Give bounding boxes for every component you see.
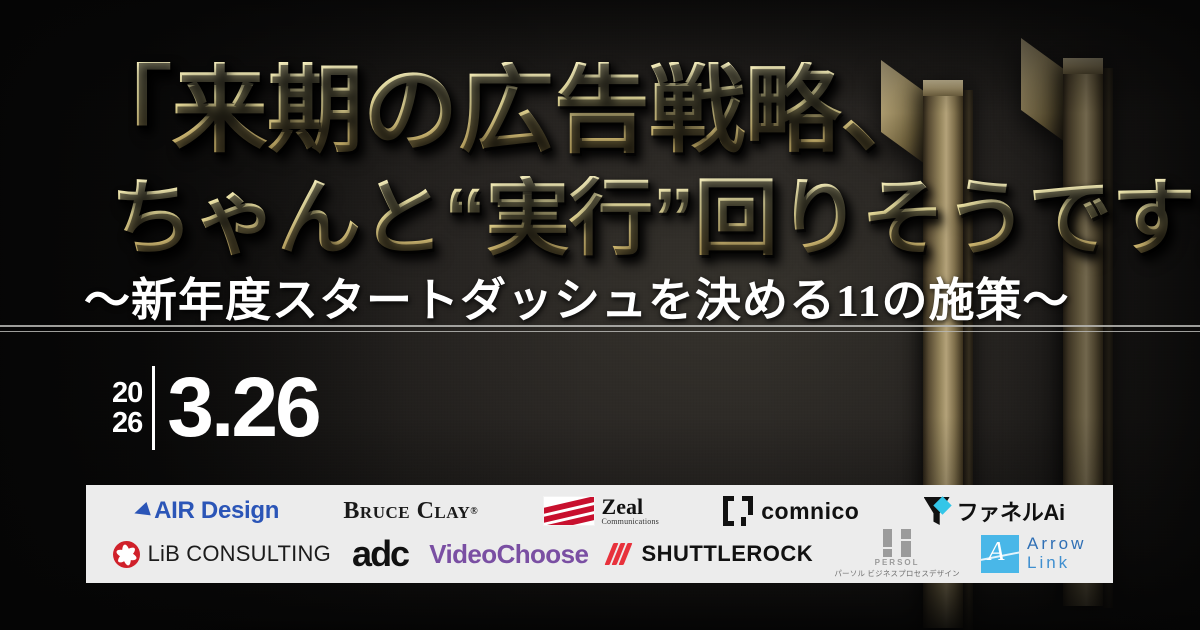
event-info-row: 20 26 3.26 ONLINE 参加無料 木 11:00~15:00 申込者… [0, 352, 1200, 477]
funnel-icon [924, 497, 950, 525]
arrow-triangle-icon [132, 502, 151, 520]
shuttlerock-stripes-icon [609, 543, 633, 565]
logo-arrow-link-label-2: Link [1027, 554, 1086, 573]
arrow-link-mark-icon: A [981, 535, 1019, 573]
event-date: 3.26 [167, 369, 319, 446]
date-vertical-rule [152, 366, 155, 450]
persol-mark-icon [883, 529, 911, 557]
sponsor-logo-bar: AIR Design Bruce Clay® Zeal Communicatio… [86, 485, 1113, 583]
sponsor-row-1: AIR Design Bruce Clay® Zeal Communicatio… [102, 491, 1097, 531]
logo-air-design-label: AIR Design [154, 497, 279, 525]
event-year-top: 20 [112, 378, 142, 408]
sponsor-row-2: LiB CONSULTING adc VideoChoose SHUTTLERO… [102, 531, 1097, 577]
logo-lib-consulting[interactable]: LiB CONSULTING [113, 541, 331, 568]
logo-lib-consulting-label: LiB CONSULTING [148, 541, 331, 567]
event-year-bottom: 26 [112, 408, 142, 438]
headline-line-2: ちゃんと“実行”回りそうですか?」 [110, 176, 1200, 262]
lib-swirl-icon [113, 541, 140, 568]
headline-line-1: 「来期の広告戦略、 [76, 62, 936, 160]
logo-comnico[interactable]: comnico [723, 496, 859, 526]
section-divider [0, 325, 1200, 332]
logo-air-design[interactable]: AIR Design [134, 497, 279, 525]
poster-canvas: 「来期の広告戦略、 ちゃんと“実行”回りそうですか?」 〜新年度スタートダッシュ… [0, 0, 1200, 630]
logo-comnico-label: comnico [761, 498, 859, 525]
logo-funnel-ai-label: ファネルAi [957, 495, 1065, 527]
comnico-bracket-icon [723, 496, 753, 526]
logo-bruce-clay-label: Bruce Clay [343, 498, 470, 525]
logo-shuttlerock-label: SHUTTLEROCK [641, 541, 813, 567]
logo-zeal-communications[interactable]: Zeal Communications [543, 496, 659, 526]
logo-persol-sublabel: パーソル ビジネスプロセスデザイン [834, 568, 959, 579]
logo-arrow-link-label-1: Arrow [1027, 535, 1086, 554]
logo-funnel-ai[interactable]: ファネルAi [924, 495, 1065, 527]
logo-arrow-link[interactable]: A Arrow Link [981, 535, 1086, 573]
logo-zeal-sublabel: Communications [602, 518, 659, 526]
logo-videochoose-label: VideoChoose [429, 539, 588, 570]
logo-bruce-clay[interactable]: Bruce Clay® [343, 498, 478, 525]
logo-videochoose[interactable]: VideoChoose [429, 539, 588, 570]
event-date-block: 20 26 3.26 [112, 366, 319, 450]
registered-mark-icon: ® [470, 506, 478, 517]
logo-persol[interactable]: PERSOL パーソル ビジネスプロセスデザイン [834, 529, 959, 579]
logo-shuttlerock[interactable]: SHUTTLEROCK [609, 541, 813, 567]
logo-adc-label: adc [352, 533, 408, 575]
logo-persol-label: PERSOL [875, 558, 920, 567]
logo-zeal-label: Zeal [602, 496, 659, 518]
zeal-stripes-icon [543, 496, 595, 526]
event-year: 20 26 [112, 378, 142, 439]
headline-subtitle: 〜新年度スタートダッシュを決める11の施策〜 [84, 264, 1124, 330]
logo-adc[interactable]: adc [352, 533, 408, 575]
